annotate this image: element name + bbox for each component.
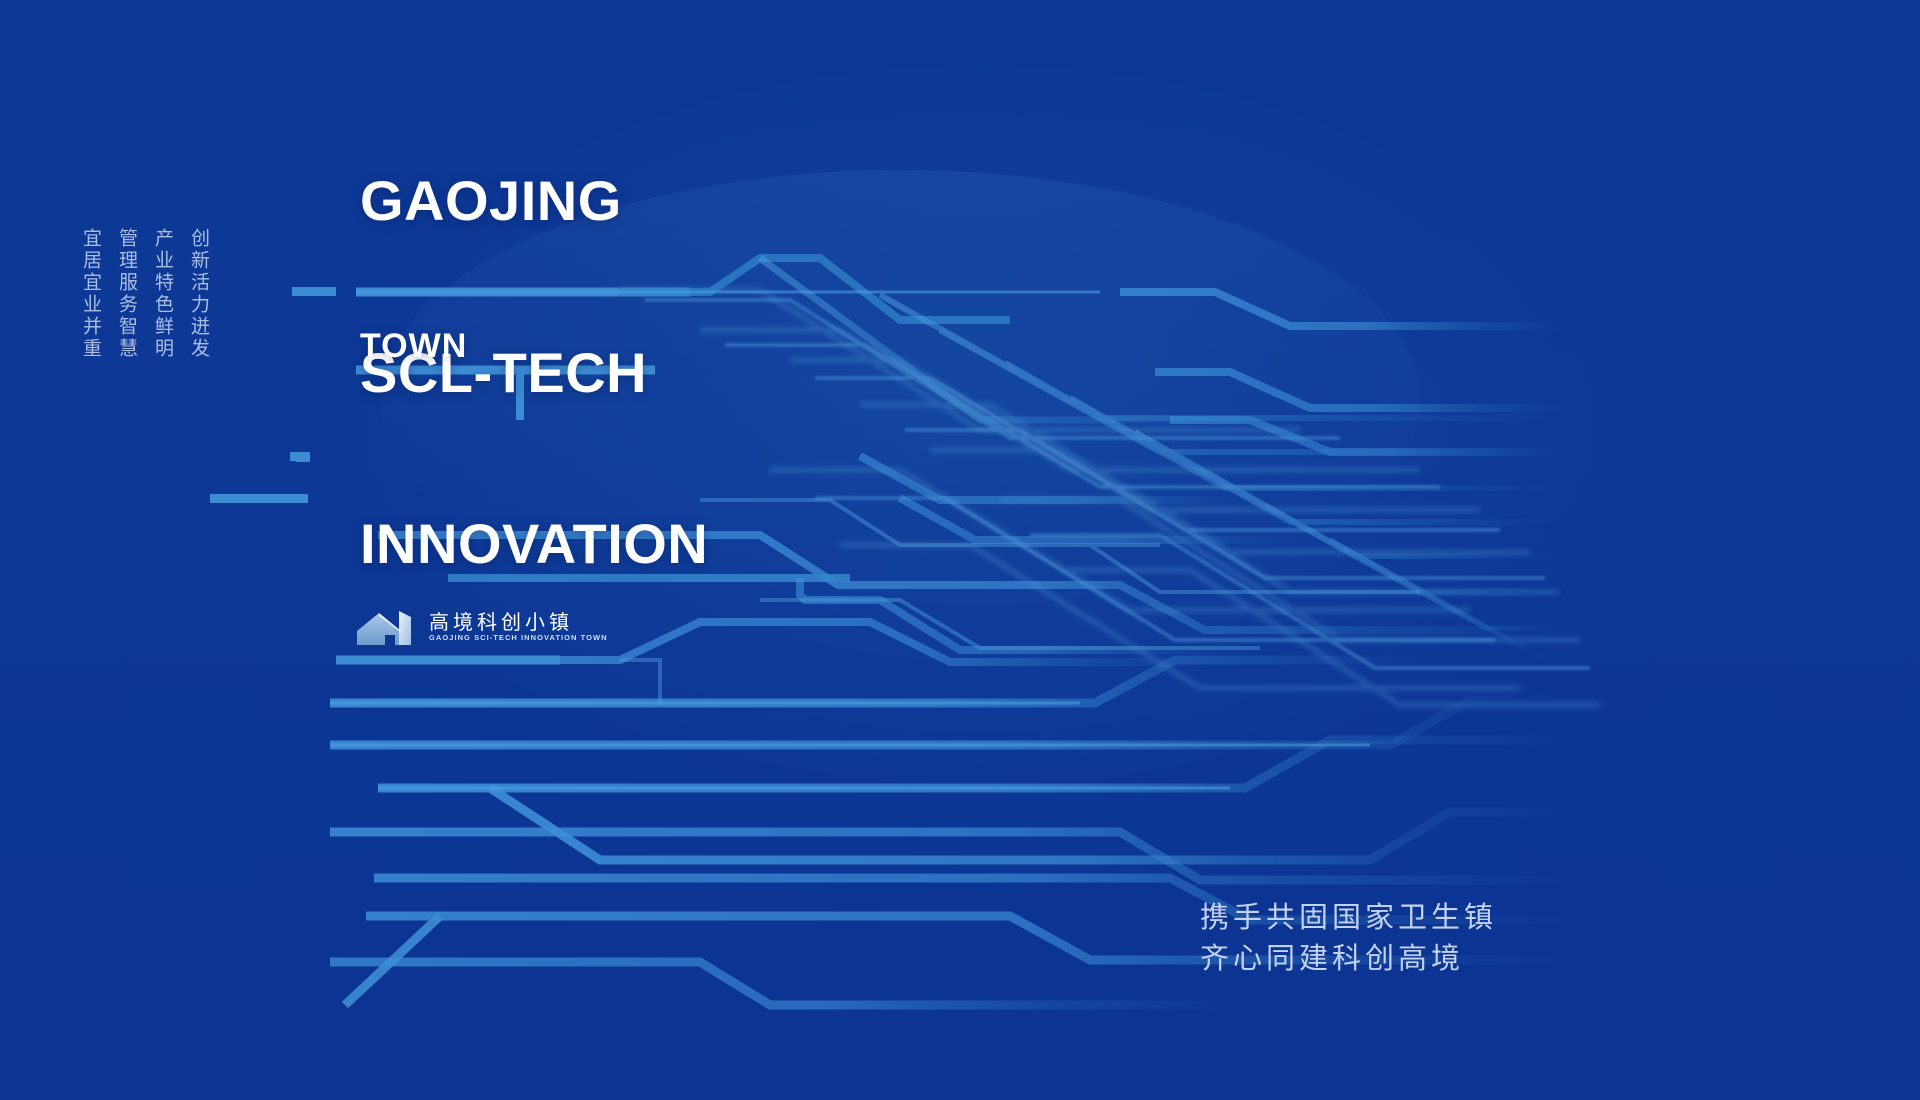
vertical-slogan-column-1: 创新活力迸发	[186, 228, 213, 360]
headline-title: GAOJING SCL-TECH INNOVATION	[360, 58, 708, 686]
brand-logo-text: 高境科创小镇 GAOJING SCI-TECH INNOVATION TOWN	[429, 612, 608, 642]
bottom-slogan: 携手共固国家卫生镇 齐心同建科创高境	[1200, 897, 1497, 979]
vertical-slogan: 创新活力迸发 产业特色鲜明 管理服务智慧 宜居宜业并重	[78, 228, 213, 360]
house-building-icon	[355, 605, 419, 649]
poster-canvas: 创新活力迸发 产业特色鲜明 管理服务智慧 宜居宜业并重 GAOJING SCL-…	[0, 0, 1920, 1100]
brand-logo: 高境科创小镇 GAOJING SCI-TECH INNOVATION TOWN	[355, 605, 608, 649]
headline-line-3: INNOVATION	[360, 515, 708, 572]
bottom-slogan-line-1: 携手共固国家卫生镇	[1200, 897, 1497, 938]
bottom-slogan-line-2: 齐心同建科创高境	[1200, 938, 1497, 979]
vertical-slogan-column-3: 管理服务智慧	[114, 228, 141, 360]
headline-line-1: GAOJING	[360, 172, 708, 229]
brand-name-cn: 高境科创小镇	[429, 612, 608, 632]
vertical-slogan-column-4: 宜居宜业并重	[78, 228, 105, 360]
headline-town: TOWN	[360, 327, 467, 366]
circuit-trace-artwork	[0, 0, 1920, 1100]
brand-name-en: GAOJING SCI-TECH INNOVATION TOWN	[429, 634, 608, 642]
vertical-slogan-column-2: 产业特色鲜明	[150, 228, 177, 360]
